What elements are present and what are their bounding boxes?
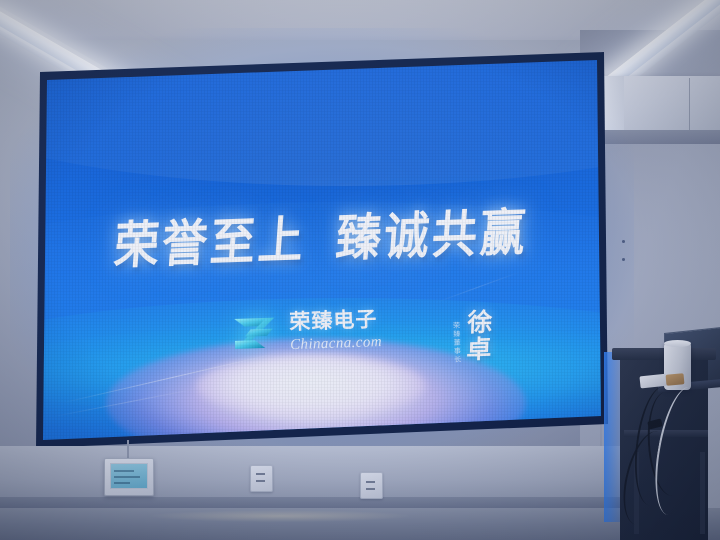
power-adapter-secondary: [666, 373, 685, 386]
wall-outlet[interactable]: [250, 465, 273, 492]
wall-cabinet-underside: [592, 130, 720, 144]
wall-cabinet-door-seam: [689, 78, 690, 130]
control-panel-text-line: [114, 470, 134, 472]
wall-anchor-dot: [622, 240, 625, 243]
led-pixel-texture: [36, 52, 608, 448]
speaker-top-cap: [664, 340, 691, 347]
outlet-slot: [256, 480, 265, 482]
control-panel-text-line: [114, 476, 140, 478]
lower-wall: [0, 446, 640, 502]
outlet-slot: [366, 488, 375, 490]
control-panel-text-line: [114, 482, 130, 484]
control-panel-conduit: [127, 440, 129, 459]
cart-leg: [700, 452, 705, 534]
screen-panel: 荣誉至上臻诚共赢: [36, 52, 608, 448]
led-video-wall[interactable]: 荣誉至上臻诚共赢: [36, 52, 608, 448]
floor-light-reflection: [150, 510, 410, 522]
wall-anchor-dot: [622, 258, 625, 261]
outlet-slot: [366, 481, 375, 483]
outlet-slot: [256, 473, 265, 475]
room-scene: 荣誉至上臻诚共赢: [0, 0, 720, 540]
wall-outlet[interactable]: [360, 472, 383, 499]
